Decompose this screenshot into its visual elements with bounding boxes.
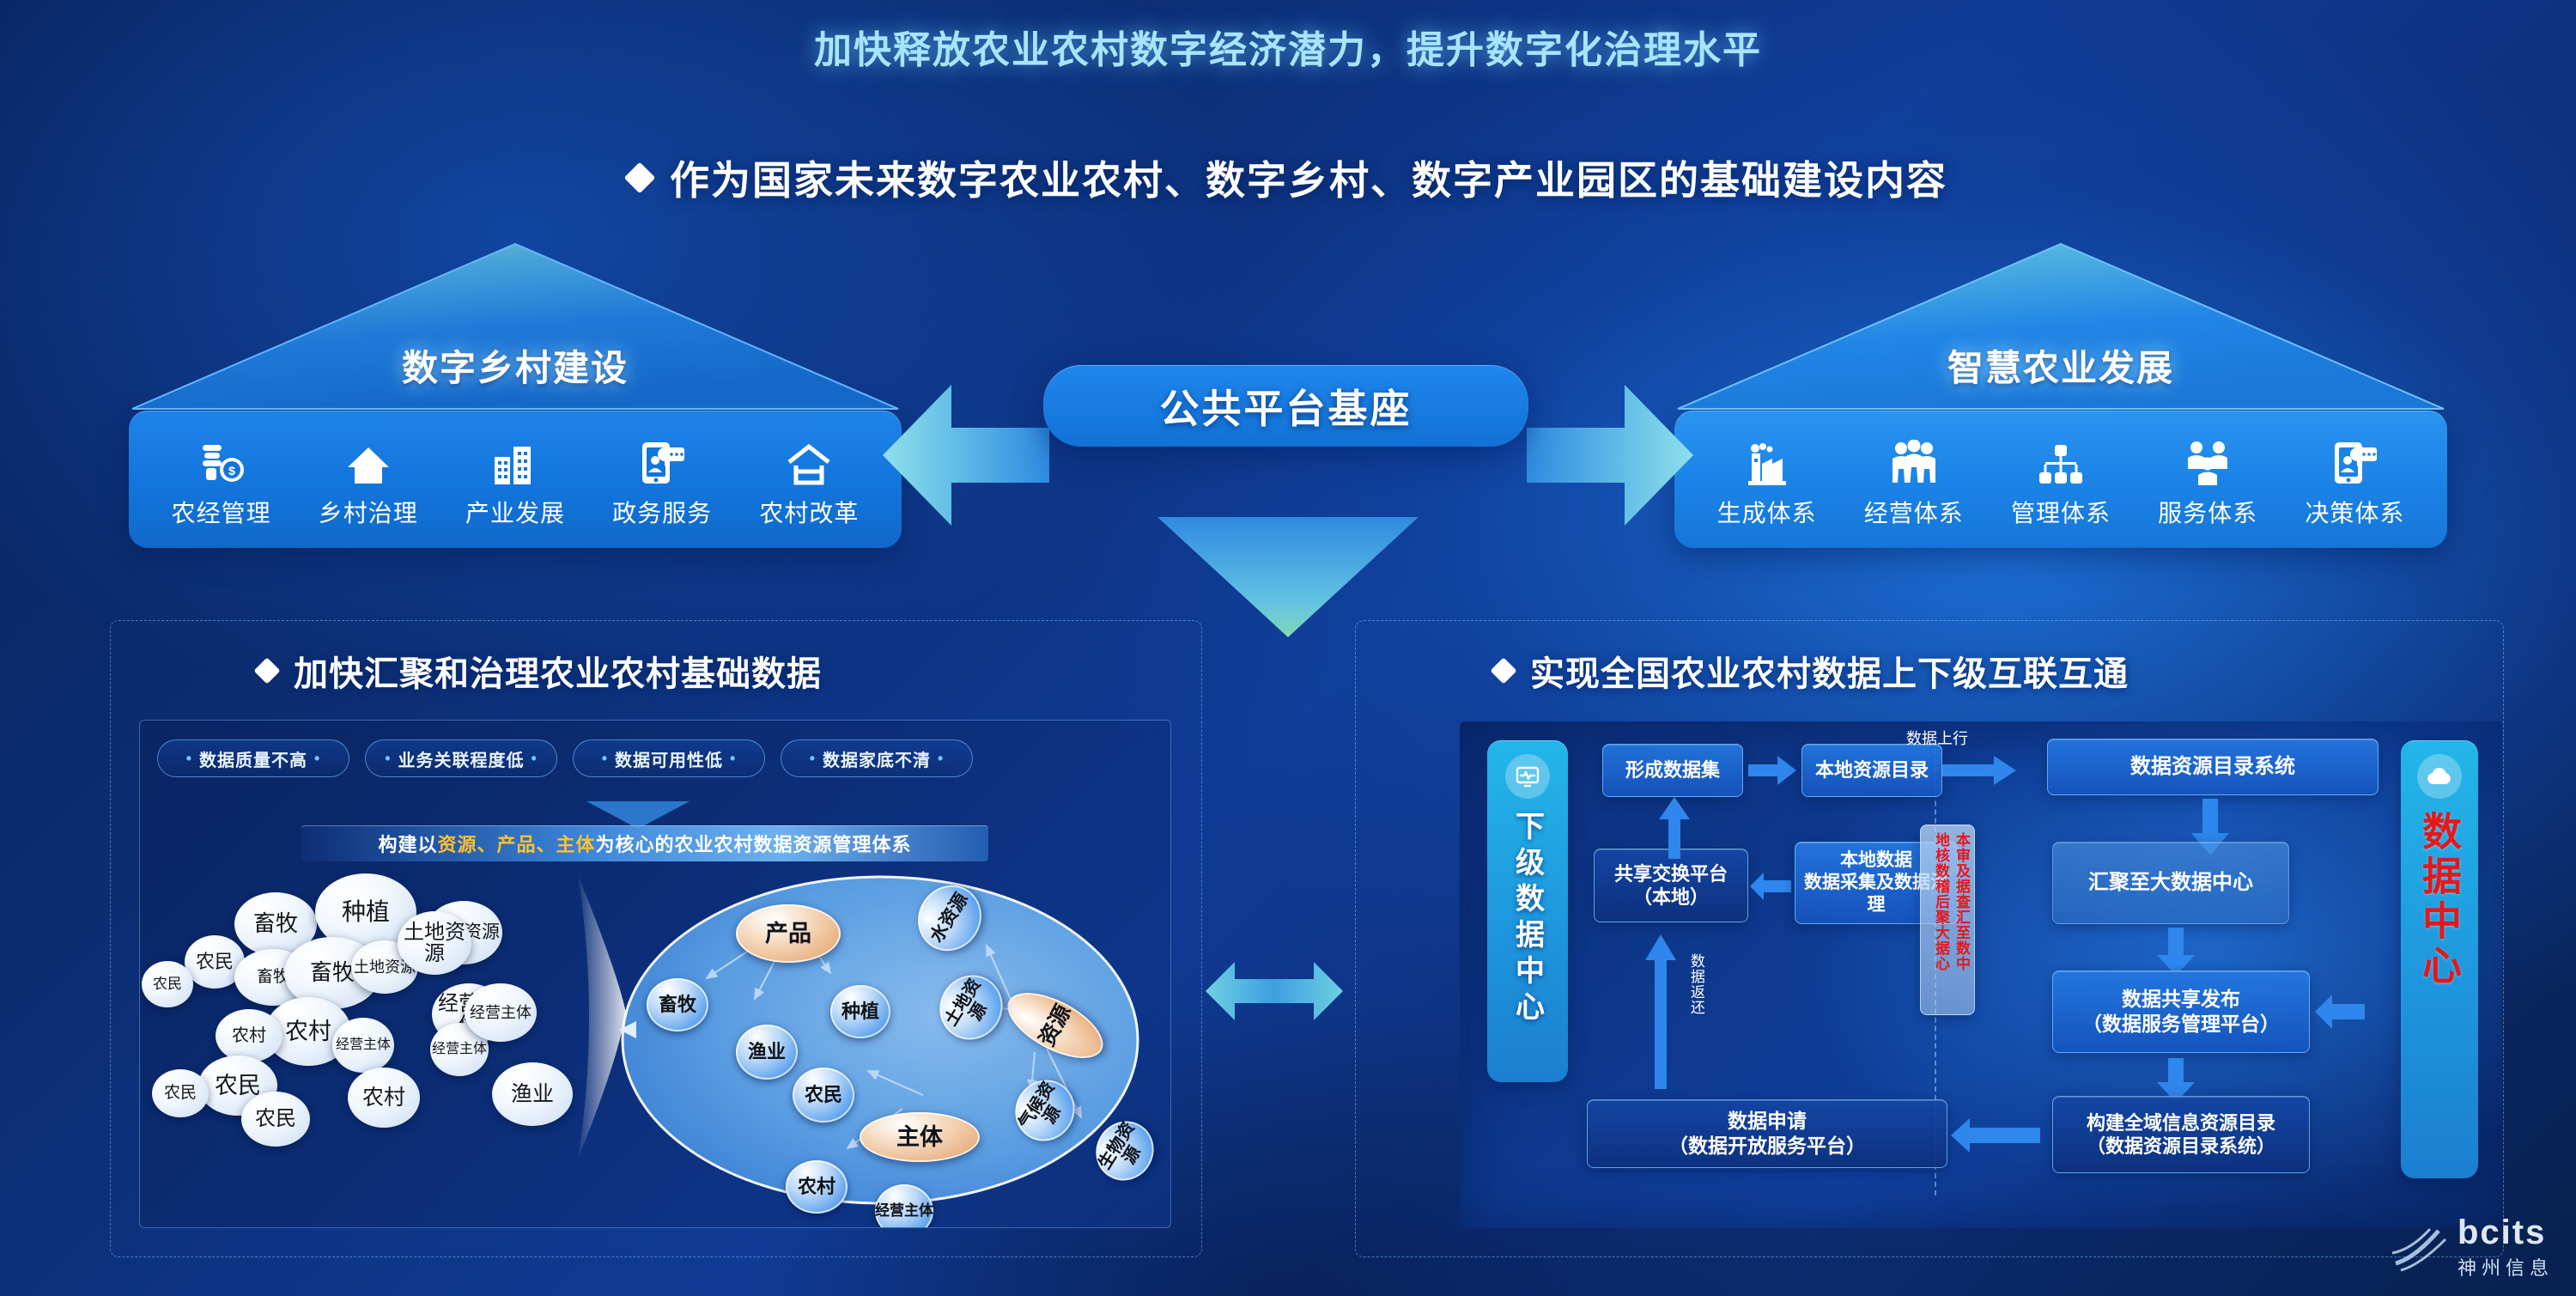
buildings-icon [491, 436, 539, 486]
roof-right-label: 智慧农业发展 [1674, 339, 2447, 392]
flow-box-aggregate-bigdata[interactable]: 汇聚至大数据中心 [2052, 842, 2289, 924]
flow-box-local-catalog[interactable]: 本地资源目录 [1801, 744, 1942, 797]
infographic-canvas: 加快释放农业农村数字经济潜力，提升数字化治理水平 作为国家未来数字农业农村、数字… [0, 0, 2576, 1296]
house-right-item-2[interactable]: 管理体系 [2009, 436, 2112, 529]
flow-box-catalog-system[interactable]: 数据资源目录系统 [2047, 739, 2379, 795]
house-left-item-4[interactable]: 农村改革 [757, 436, 860, 529]
svg-text:$: $ [228, 464, 235, 478]
coins-money-icon: $ [197, 436, 246, 486]
house-left-item-label: 乡村治理 [319, 495, 418, 529]
house-left-item-0[interactable]: $ 农经管理 [170, 436, 273, 529]
house-right-body: 生成体系 经营体系 [1674, 411, 2447, 548]
house-left-item-label: 农村改革 [759, 495, 859, 529]
core-node-product: 产品 [736, 904, 841, 963]
banner-suffix: 为核心的农业农村数据资源管理体系 [596, 830, 912, 857]
panel-right-inner: 下级数据中心 数据中心 形成数据集 本地资源目录 数据上行 数据资源目录系统 [1460, 721, 2502, 1228]
audit-label-col2: 地核数稽后聚大据心 [1933, 832, 1948, 971]
house-left-item-2[interactable]: 产业发展 [464, 436, 567, 529]
house-left-item-label: 产业发展 [465, 495, 565, 529]
roof-left: 数字乡村建设 [129, 240, 902, 412]
house-right-item-label: 管理体系 [2011, 495, 2111, 529]
flow-label-return: 数据返还 [1688, 953, 1704, 1015]
chaos-bubble: 农村 [216, 1009, 283, 1062]
arrow-right [1527, 378, 1698, 537]
issue-pill-2[interactable]: 数据可用性低 [573, 739, 765, 777]
flow-box-share-exchange-line1: 共享交换平台（本地） [1614, 862, 1728, 910]
factory-icon [1743, 436, 1791, 486]
mobile-service-icon [639, 436, 685, 486]
chaos-bubble: 经营主体 [465, 983, 537, 1042]
audit-label-col1: 本审及据查汇至数中 [1953, 832, 1969, 971]
chaos-bubble: 渔业 [492, 1062, 573, 1126]
sub-data-center-sidebar[interactable]: 下级数据中心 [1487, 740, 1568, 1082]
arrow-left-icon [1750, 873, 1791, 904]
arrow-right-icon [1748, 756, 1796, 789]
house-right-item-label: 生成体系 [1717, 495, 1817, 529]
issue-pill-1[interactable]: 业务关联程度低 [365, 739, 557, 777]
arrow-up-icon [1645, 934, 1676, 1093]
house-right-item-label: 决策体系 [2305, 495, 2404, 529]
house-left-item-3[interactable]: 政务服务 [611, 436, 714, 529]
banner-highlight: 资源、产品、主体 [437, 830, 595, 857]
leaf-node: 畜牧 [647, 978, 708, 1031]
arrow-left-icon [2315, 995, 2365, 1033]
chaos-bubble: 农民 [142, 961, 193, 1007]
flow-box-share-publish[interactable]: 数据共享发布（数据服务管理平台） [2052, 970, 2310, 1053]
chaos-bubble: 土地资源 [398, 911, 471, 975]
chaos-bubble: 经营主体 [332, 1018, 394, 1073]
people-service-icon [2184, 436, 2232, 486]
house-left-item-label: 农经管理 [172, 495, 271, 529]
flow-box-data-apply[interactable]: 数据申请（数据开放服务平台） [1587, 1099, 1947, 1168]
sub-title: 作为国家未来数字农业农村、数字乡村、数字产业园区的基础建设内容 [0, 149, 2576, 206]
data-center-label: 数据中心 [2411, 811, 2468, 989]
logo-mark-icon [2389, 1224, 2449, 1272]
mobile-decision-icon [2331, 436, 2378, 486]
cloud-icon [2417, 754, 2462, 799]
chaos-bubble: 农村 [348, 1068, 420, 1128]
arrow-up-icon [1659, 797, 1690, 863]
house-right-item-0[interactable]: 生成体系 [1716, 436, 1819, 529]
panel-left-title-text: 加快汇聚和治理农业农村基础数据 [294, 646, 822, 696]
roof-left-label: 数字乡村建设 [129, 339, 902, 392]
flow-box-global-catalog[interactable]: 构建全域信息资源目录（数据资源目录系统） [2052, 1096, 2310, 1173]
house-right-item-3[interactable]: 服务体系 [2156, 436, 2259, 529]
sub-data-center-label: 下级数据中心 [1507, 811, 1549, 1027]
house-reform-icon [786, 436, 832, 486]
arrow-upload-icon [1942, 756, 2016, 789]
sub-title-text: 作为国家未来数字农业农村、数字乡村、数字产业园区的基础建设内容 [670, 149, 1947, 206]
panel-left-inner: 数据质量不高 业务关联程度低 数据可用性低 数据家底不清 构建以资源、产品、主体… [139, 720, 1171, 1228]
audit-note-box: 本审及据查汇至数中 地核数稽后聚大据心 [1920, 824, 1975, 1015]
flow-box-form-dataset[interactable]: 形成数据集 [1602, 744, 1743, 797]
chaos-bubble: 农民 [152, 1069, 209, 1117]
panel-right-title-text: 实现全国农业农村数据上下级互联互通 [1530, 646, 2129, 696]
diamond-bullet-icon [1490, 657, 1516, 684]
flow-label-upload: 数据上行 [1906, 727, 1968, 749]
arrow-left-icon [1951, 1118, 2040, 1157]
house-right-item-label: 经营体系 [1864, 495, 1964, 529]
issue-pill-0[interactable]: 数据质量不高 [157, 739, 349, 777]
diamond-bullet-icon [253, 657, 280, 684]
platform-base-pill[interactable]: 公共平台基座 [1043, 365, 1528, 447]
issue-pill-3[interactable]: 数据家底不清 [781, 739, 973, 777]
house-right-item-label: 服务体系 [2158, 495, 2257, 529]
house-left-item-label: 政务服务 [612, 495, 712, 529]
leaf-node: 种植 [830, 985, 890, 1038]
leaf-node: 渔业 [736, 1025, 798, 1080]
arrow-left [878, 378, 1049, 537]
monitor-pulse-icon [1505, 754, 1550, 799]
roof-right: 智慧农业发展 [1674, 240, 2447, 412]
leaf-node: 农村 [786, 1160, 848, 1214]
house-right: 智慧农业发展 生成体系 [1674, 240, 2447, 548]
ordered-ellipse-diagram: 产品 主体 资源 畜牧 渔业 种植 农民 农村 经营主体 水资源 土地资源 气候… [617, 868, 1143, 1212]
house-right-item-4[interactable]: 决策体系 [2303, 436, 2406, 529]
core-banner: 构建以资源、产品、主体为核心的农业农村数据资源管理体系 [301, 825, 988, 861]
chaos-bubble: 农民 [241, 1092, 310, 1147]
main-title: 加快释放农业农村数字经济潜力，提升数字化治理水平 [0, 19, 2576, 74]
core-node-subject: 主体 [860, 1112, 980, 1162]
panel-left-title: 加快汇聚和治理农业农村基础数据 [258, 646, 822, 696]
house-left-item-1[interactable]: 乡村治理 [317, 436, 420, 529]
banner-prefix: 构建以 [378, 830, 437, 857]
house-right-item-1[interactable]: 经营体系 [1862, 436, 1965, 529]
brand-logo: bcits 神州信息 [2389, 1215, 2554, 1281]
house-left: 数字乡村建设 $ 农经管理 [129, 240, 902, 548]
bidirectional-arrow-icon [1206, 955, 1343, 1031]
house-left-body: $ 农经管理 乡村治理 [129, 411, 902, 548]
diamond-bullet-icon [624, 162, 656, 194]
org-chart-icon [2037, 436, 2085, 486]
people-group-icon [1889, 436, 1939, 486]
logo-wordmark: bcits [2458, 1215, 2554, 1250]
data-center-sidebar[interactable]: 数据中心 [2401, 740, 2478, 1178]
logo-chinese: 神州信息 [2458, 1253, 2554, 1281]
home-icon [346, 436, 391, 486]
leaf-node: 农民 [793, 1068, 854, 1123]
panel-right-title: 实现全国农业农村数据上下级互联互通 [1494, 646, 2129, 696]
